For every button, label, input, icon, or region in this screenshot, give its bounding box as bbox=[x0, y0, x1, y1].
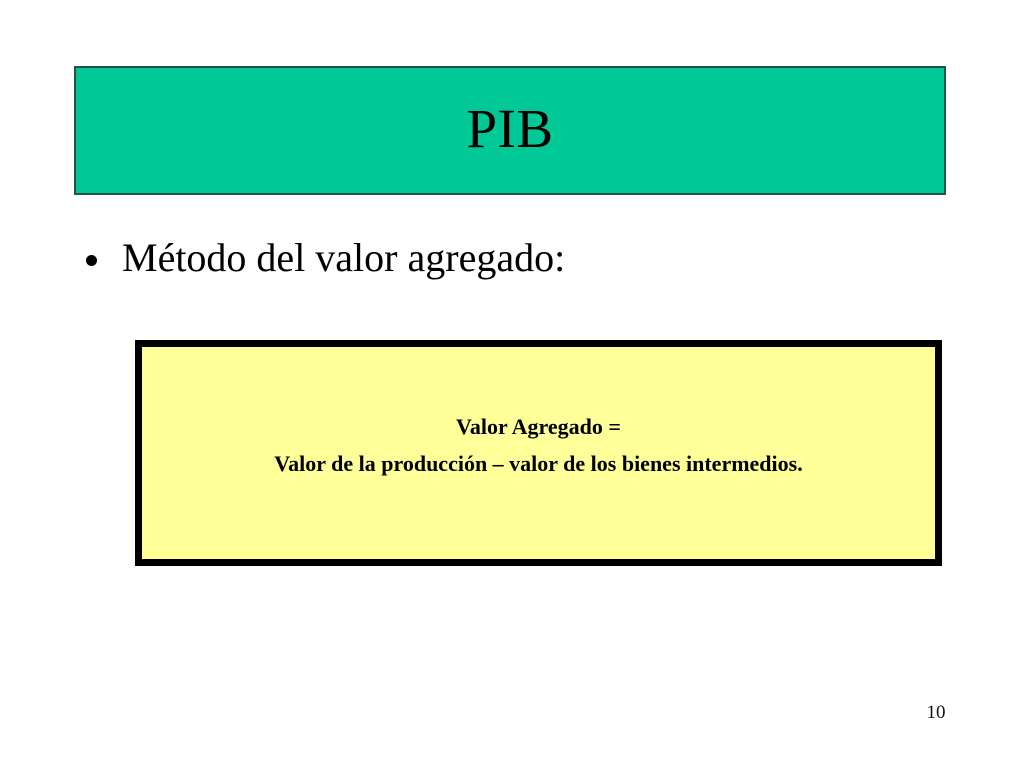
page-number: 10 bbox=[916, 703, 956, 722]
title-banner: PIB bbox=[74, 66, 946, 195]
formula-line-1: Valor Agregado = bbox=[142, 408, 935, 445]
formula-line-2: Valor de la producción – valor de los bi… bbox=[142, 445, 935, 482]
bullet-item-label: Método del valor agregado: bbox=[122, 236, 565, 280]
page-title: PIB bbox=[466, 101, 553, 156]
slide-canvas: PIB Método del valor agregado: Valor Agr… bbox=[0, 0, 1024, 768]
formula-callout-box: Valor Agregado = Valor de la producción … bbox=[135, 340, 942, 566]
bullet-list-item: Método del valor agregado: bbox=[86, 232, 906, 284]
formula-text-block: Valor Agregado = Valor de la producción … bbox=[142, 408, 935, 482]
bullet-dot-icon bbox=[86, 255, 97, 266]
